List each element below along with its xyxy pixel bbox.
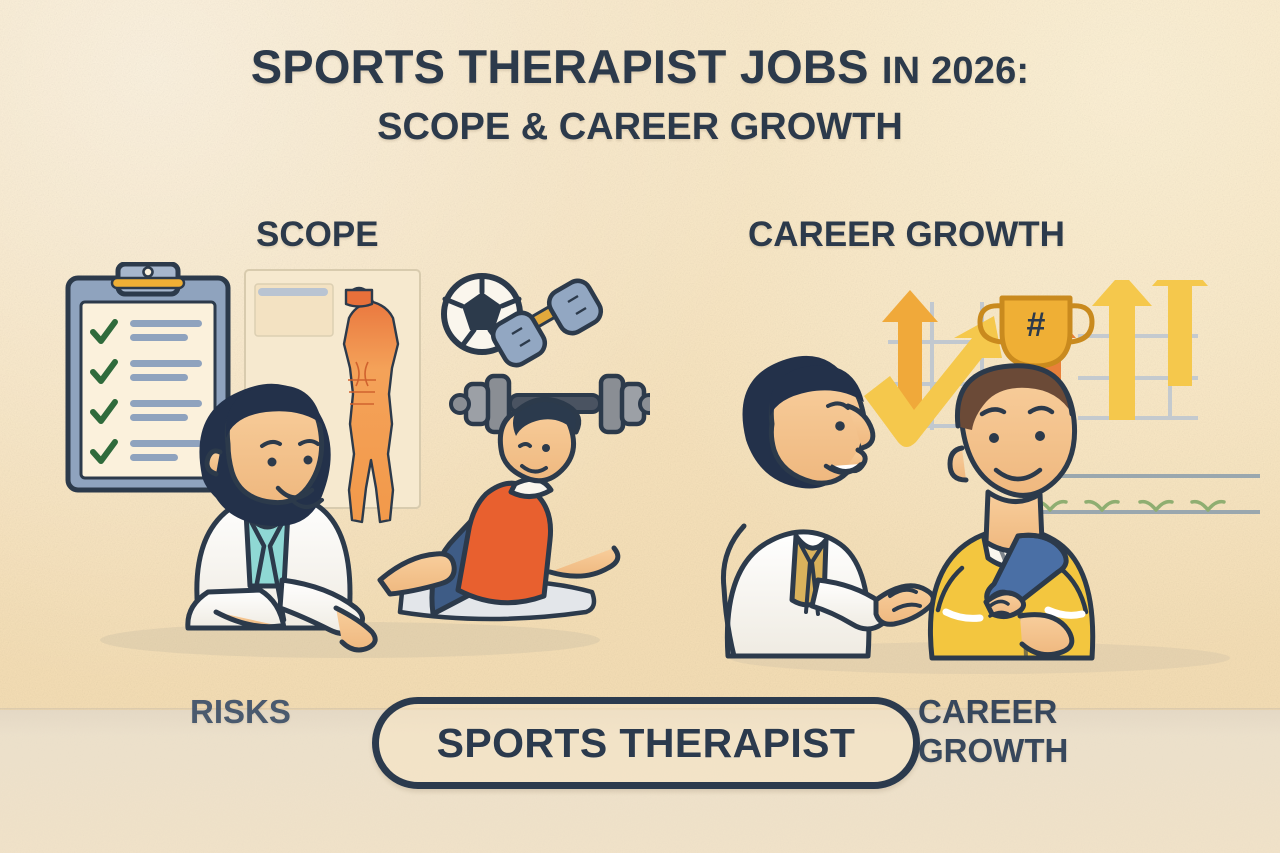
page-title-line-2: SCOPE & CAREER GROWTH [0, 107, 1280, 149]
career-growth-illustration: # [700, 280, 1260, 680]
page-title-line-1: SPORTS THERAPIST JOBS IN 2026: [0, 42, 1280, 93]
bar-arrow-yellow-mid-icon [1092, 280, 1152, 420]
section-heading-career-growth: CAREER GROWTH [748, 215, 1065, 255]
title-main-text: SPORTS THERAPIST JOBS [251, 40, 869, 93]
section-heading-scope: SCOPE [256, 215, 379, 255]
title-tail-text: IN 2026: [882, 50, 1029, 92]
infographic-canvas: SPORTS THERAPIST JOBS IN 2026: SCOPE & C… [0, 0, 1280, 853]
bar-arrow-yellow-tall-icon [1152, 280, 1208, 386]
scope-illustration [50, 262, 650, 682]
footer-career-line-2: GROWTH [918, 732, 1068, 771]
svg-text:#: # [1027, 306, 1046, 344]
sports-therapist-badge[interactable]: SPORTS THERAPIST [372, 697, 920, 789]
sprout-decorations [1034, 502, 1224, 510]
title-block: SPORTS THERAPIST JOBS IN 2026: SCOPE & C… [0, 42, 1280, 149]
sports-therapist-badge-label: SPORTS THERAPIST [437, 720, 856, 767]
footer-label-risks: RISKS [190, 693, 291, 731]
footer-career-line-1: CAREER [918, 693, 1068, 732]
footer-label-career-growth: CAREER GROWTH [918, 693, 1068, 771]
